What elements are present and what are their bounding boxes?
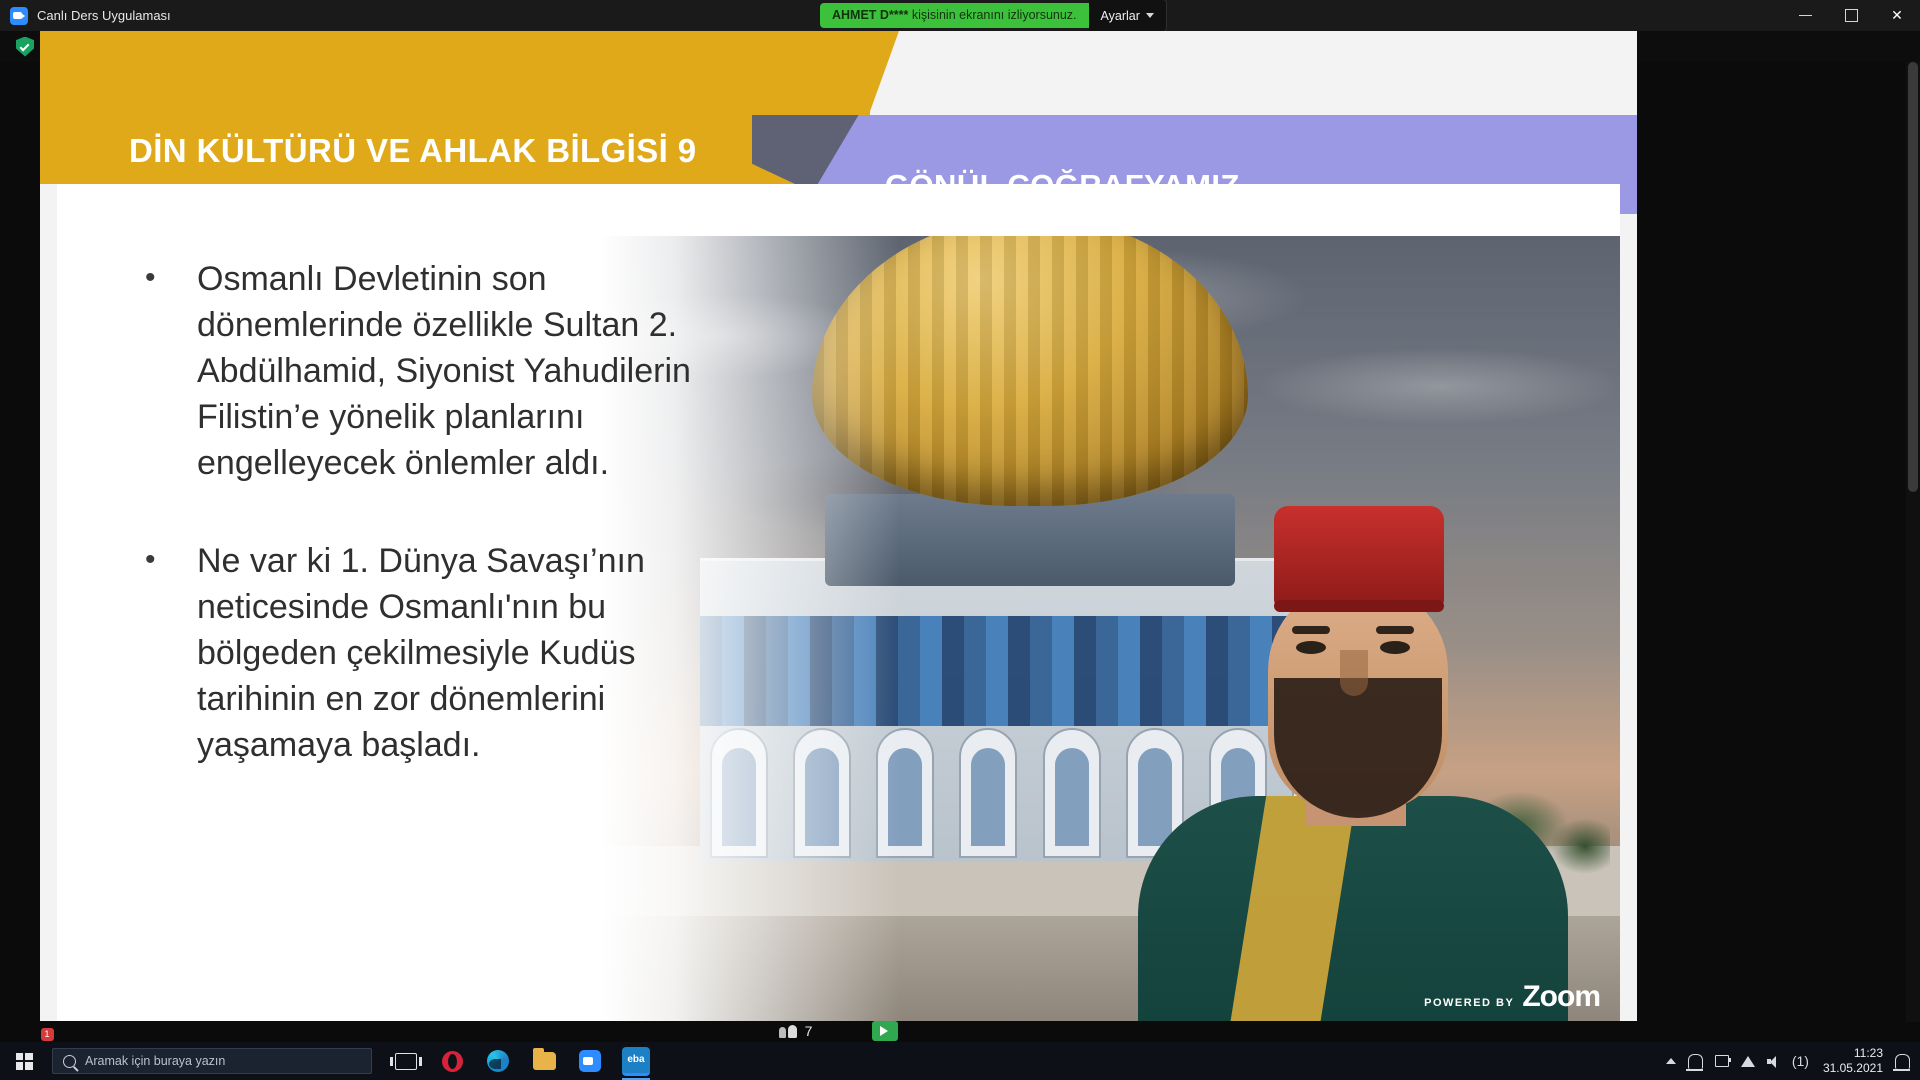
search-icon — [63, 1055, 76, 1068]
sharing-notice-user: AHMET D**** — [832, 8, 908, 22]
windows-taskbar: Aramak için buraya yazın eba (1) 11:23 3… — [0, 1042, 1920, 1080]
vertical-scrollbar[interactable] — [1906, 62, 1920, 1022]
watermark-brand-label: Zoom — [1522, 980, 1600, 1014]
clock-date: 31.05.2021 — [1823, 1061, 1883, 1076]
minimize-button[interactable] — [1782, 0, 1828, 31]
edge-icon[interactable] — [478, 1042, 518, 1080]
participants-button[interactable]: 7 — [779, 1023, 813, 1039]
tray-notifications-icon[interactable] — [1688, 1054, 1703, 1069]
search-placeholder: Aramak için buraya yazın — [85, 1054, 225, 1068]
zoom-icon[interactable] — [570, 1042, 610, 1080]
bullet-marker-icon: • — [145, 538, 197, 582]
bullet-text: Osmanlı Devletinin son dönemlerinde özel… — [197, 256, 740, 486]
taskbar-icons: eba — [386, 1042, 656, 1080]
network-icon[interactable] — [1741, 1056, 1755, 1067]
close-icon: ✕ — [1891, 7, 1903, 24]
show-hidden-icons-icon[interactable] — [1666, 1058, 1676, 1064]
clock[interactable]: 11:23 31.05.2021 — [1821, 1046, 1883, 1076]
close-button[interactable]: ✕ — [1874, 0, 1920, 31]
fez-hat — [1274, 506, 1444, 606]
portrait-eye-left — [1296, 641, 1326, 654]
minimize-icon — [1799, 15, 1812, 16]
zoom-title-bar: Canlı Ders Uygulaması AHMET D**** kişisi… — [0, 0, 1920, 31]
battery-icon[interactable] — [1715, 1055, 1729, 1067]
scrollbar-thumb[interactable] — [1908, 62, 1918, 492]
windows-logo-icon — [16, 1053, 33, 1070]
security-shield-icon — [16, 37, 34, 57]
action-center-icon[interactable] — [1895, 1054, 1910, 1069]
notification-count: 1 — [41, 1028, 54, 1041]
zoom-watermark: POWERED BY Zoom — [1424, 980, 1600, 1014]
slide-body: POWERED BY Zoom • Osmanlı Devletinin son… — [57, 184, 1620, 1021]
sultan-portrait — [1128, 506, 1578, 1021]
zoom-app-icon — [10, 7, 28, 25]
sharing-notice-text: kişisinin ekranını izliyorsunuz. — [908, 8, 1076, 22]
opera-icon[interactable] — [432, 1042, 472, 1080]
taskbar-notification-badge[interactable]: 1 — [38, 1026, 56, 1042]
arch — [1043, 728, 1101, 858]
window-controls: ✕ — [1782, 0, 1920, 31]
settings-button[interactable]: Ayarlar — [1089, 0, 1167, 32]
slide-header: DİN KÜLTÜRÜ VE AHLAK BİLGİSİ 9 GÖNÜL COĞ… — [40, 31, 1637, 184]
bullet-marker-icon: • — [145, 256, 197, 300]
portrait-eye-right — [1380, 641, 1410, 654]
search-input[interactable]: Aramak için buraya yazın — [52, 1048, 372, 1074]
eba-icon[interactable]: eba — [616, 1042, 656, 1080]
portrait-nose — [1340, 650, 1368, 696]
maximize-icon — [1845, 9, 1858, 22]
clock-time: 11:23 — [1823, 1046, 1883, 1061]
slide-title: DİN KÜLTÜRÜ VE AHLAK BİLGİSİ 9 — [129, 132, 697, 170]
sharing-notice: AHMET D**** kişisinin ekranını izliyorsu… — [820, 3, 1089, 28]
window-title: Canlı Ders Uygulaması — [37, 8, 171, 23]
screen-root: Canlı Ders Uygulaması AHMET D**** kişisi… — [0, 0, 1920, 1080]
shared-screen-stage: DİN KÜLTÜRÜ VE AHLAK BİLGİSİ 9 GÖNÜL COĞ… — [40, 31, 1637, 1021]
zoom-meeting-toolbar: 7 — [40, 1017, 1637, 1045]
share-screen-icon[interactable] — [872, 1021, 898, 1041]
volume-icon[interactable] — [1767, 1056, 1780, 1067]
slide-bullet-list: • Osmanlı Devletinin son dönemlerinde öz… — [145, 256, 740, 820]
list-item: • Ne var ki 1. Dünya Savaşı’nın neticesi… — [145, 538, 740, 768]
portrait-brow-right — [1376, 626, 1414, 634]
watermark-powered-label: POWERED BY — [1424, 997, 1514, 1009]
start-button[interactable] — [0, 1042, 48, 1080]
list-item: • Osmanlı Devletinin son dönemlerinde öz… — [145, 256, 740, 486]
sharing-status-group: AHMET D**** kişisinin ekranını izliyorsu… — [820, 0, 1167, 31]
participants-icon — [779, 1025, 797, 1038]
task-view-icon[interactable] — [386, 1042, 426, 1080]
participants-count: 7 — [805, 1023, 813, 1039]
volume-badge: (1) — [1792, 1053, 1809, 1069]
chevron-down-icon — [1146, 13, 1154, 18]
portrait-brow-left — [1292, 626, 1330, 634]
bullet-text: Ne var ki 1. Dünya Savaşı’nın neticesind… — [197, 538, 740, 768]
settings-label: Ayarlar — [1101, 9, 1140, 23]
arch — [959, 728, 1017, 858]
system-tray: (1) 11:23 31.05.2021 — [1666, 1042, 1920, 1080]
maximize-button[interactable] — [1828, 0, 1874, 31]
eba-label: eba — [622, 1047, 650, 1076]
file-explorer-icon[interactable] — [524, 1042, 564, 1080]
slide-photo: POWERED BY Zoom — [600, 236, 1620, 1021]
